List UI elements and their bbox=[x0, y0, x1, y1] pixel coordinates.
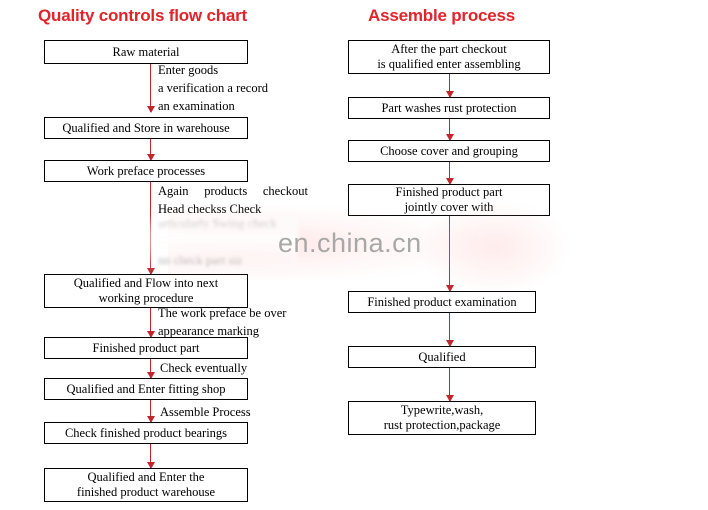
node-check-bearings: Check finished product bearings bbox=[44, 422, 248, 444]
node-work-preface: Work preface processes bbox=[44, 160, 248, 182]
edge-label-obscured-1: articularly Swing check bbox=[158, 216, 277, 234]
node-raw-material: Raw material bbox=[44, 40, 248, 64]
node-qualified-enter-warehouse: Qualified and Enter the finished product… bbox=[44, 468, 248, 502]
left-flow-title: Quality controls flow chart bbox=[38, 6, 247, 26]
node-qualified-store: Qualified and Store in warehouse bbox=[44, 117, 248, 139]
edge-label-obscured-2: nn check part siz bbox=[158, 252, 242, 270]
arrow-after-checkout-to-part-washes bbox=[449, 74, 450, 97]
arrow-work-preface-to-qualified-flow bbox=[150, 182, 151, 274]
arrow-part-washes-to-choose-cover bbox=[449, 119, 450, 140]
arrow-raw-material-to-qualified-store bbox=[150, 64, 151, 112]
arrow-check-bearings-to-qualified-warehouse bbox=[150, 444, 151, 468]
flowchart-canvas: Quality controls flow chart Raw material… bbox=[0, 0, 708, 510]
node-work-preface-line-0: Work preface processes bbox=[87, 164, 205, 179]
arrow-qualified-store-to-work-preface bbox=[150, 139, 151, 160]
arrow-exam-to-qualified bbox=[449, 313, 450, 346]
node-part-washes-rust: Part washes rust protection bbox=[348, 97, 550, 119]
arrow-choose-cover-to-finished-jointly bbox=[449, 162, 450, 184]
arrow-qualified-flow-to-finished-part bbox=[150, 308, 151, 337]
edge-label-again-products-line-0: Againproductscheckout bbox=[158, 183, 308, 201]
node-typewrite-wash: Typewrite,wash, rust protection,package bbox=[348, 401, 536, 435]
arrow-finished-jointly-to-exam bbox=[449, 216, 450, 291]
right-flow-title: Assemble process bbox=[368, 6, 515, 26]
edge-label-work-preface-over: The work preface be over appearance mark… bbox=[158, 305, 318, 341]
node-finished-product-part: Finished product part bbox=[44, 337, 248, 359]
node-qualified-store-line-0: Qualified and Store in warehouse bbox=[62, 121, 229, 136]
arrow-fitting-shop-to-check-bearings bbox=[150, 400, 151, 422]
edge-label-enter-goods: Enter goods a verification a record an e… bbox=[158, 62, 304, 115]
node-choose-cover-grouping: Choose cover and grouping bbox=[348, 140, 550, 162]
arrow-finished-part-to-fitting-shop bbox=[150, 359, 151, 378]
edge-label-again-products: Againproductscheckout bbox=[158, 183, 308, 201]
node-after-part-checkout: After the part checkout is qualified ent… bbox=[348, 40, 550, 74]
node-qualified-flow-next: Qualified and Flow into next working pro… bbox=[44, 274, 248, 308]
edge-label-check-eventually: Check eventually bbox=[160, 360, 247, 378]
node-finished-product-exam: Finished product examination bbox=[348, 291, 536, 313]
watermark-text: en.china.cn bbox=[278, 228, 422, 259]
node-qualified-fitting-shop: Qualified and Enter fitting shop bbox=[44, 378, 248, 400]
node-qualified-right: Qualified bbox=[348, 346, 536, 368]
edge-label-assemble-process: Assemble Process bbox=[160, 404, 251, 422]
arrow-qualified-to-typewrite bbox=[449, 368, 450, 401]
node-finished-jointly-cover: Finished product part jointly cover with bbox=[348, 184, 550, 216]
node-raw-material-line-0: Raw material bbox=[113, 45, 180, 60]
